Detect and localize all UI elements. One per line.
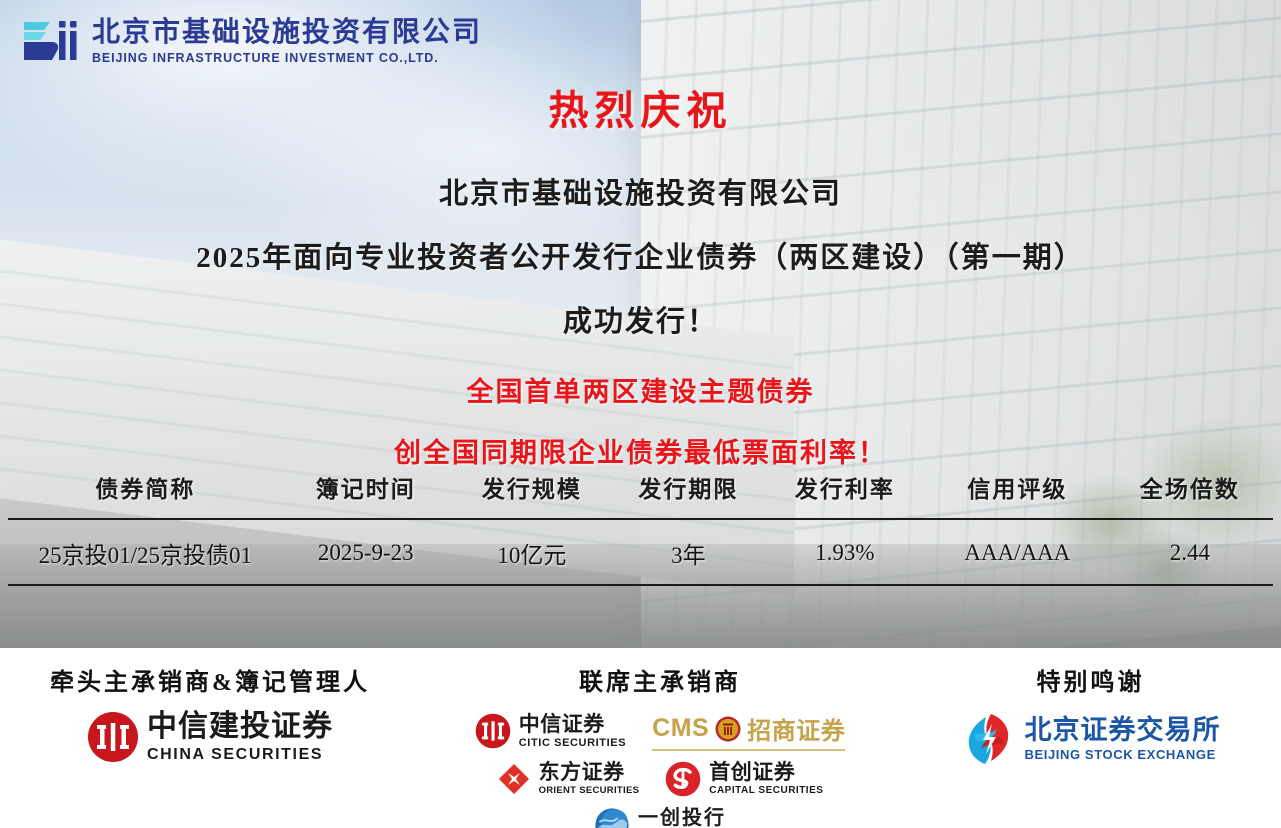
cms-abbreviation: CMS xyxy=(652,714,709,743)
highlight-line-2: 创全国同期限企业债券最低票面利率！ xyxy=(0,431,1281,470)
headline-line-1: 北京市基础设施投资有限公司 xyxy=(0,170,1281,212)
cell-bond-name: 25京投01/25京投债01 xyxy=(8,519,283,585)
logo-orient-securities: 东方证券 ORIENT SECURITIES xyxy=(497,762,640,796)
header-credit-rating: 信用评级 xyxy=(928,466,1107,519)
bii-logo-icon xyxy=(22,18,80,64)
orient-securities-icon xyxy=(497,762,531,796)
china-securities-wordmark: 中信建投证券 CHINA SECURITIES xyxy=(147,712,333,763)
bse-name-en: BEIJING STOCK EXCHANGE xyxy=(1025,748,1221,761)
footer-title-joint-underwriters: 联席主承销商 xyxy=(420,662,900,697)
headline-block: 热烈庆祝 北京市基础设施投资有限公司 2025年面向专业投资者公开发行企业债券（… xyxy=(0,0,1281,470)
cell-issue-term: 3年 xyxy=(615,519,762,585)
fcib-wordmark: 一创投行 FCIB xyxy=(638,808,726,828)
logo-beijing-stock-exchange: 北京证券交易所 BEIJING STOCK EXCHANGE xyxy=(961,711,1221,767)
capital-securities-name-cn: 首创证券 xyxy=(709,762,823,783)
logo-citic-securities: 中信证券 CITIC SECURITIES xyxy=(475,713,626,749)
capital-securities-icon xyxy=(665,761,701,797)
footer-logos-lead: 中信建投证券 CHINA SECURITIES xyxy=(0,711,420,763)
company-name-cn: 北京市基础设施投资有限公司 xyxy=(92,18,482,46)
header-bond-name: 债券简称 xyxy=(8,466,283,519)
company-logo: 北京市基础设施投资有限公司 BEIJING INFRASTRUCTURE INV… xyxy=(22,18,482,65)
footer-logos-thanks: 北京证券交易所 BEIJING STOCK EXCHANGE xyxy=(900,711,1281,767)
footer-column-lead-underwriter: 牵头主承销商&簿记管理人 中信建投证券 CHI xyxy=(0,648,420,828)
celebration-title: 热烈庆祝 xyxy=(0,78,1281,136)
logo-china-securities: 中信建投证券 CHINA SECURITIES xyxy=(87,711,333,763)
table-row: 25京投01/25京投债01 2025-9-23 10亿元 3年 1.93% A… xyxy=(8,519,1273,585)
company-logo-text: 北京市基础设施投资有限公司 BEIJING INFRASTRUCTURE INV… xyxy=(92,18,482,65)
capital-securities-name-en: CAPITAL SECURITIES xyxy=(709,786,823,796)
fcib-globe-icon xyxy=(594,807,630,828)
bond-summary-table: 债券简称 簿记时间 发行规模 发行期限 发行利率 信用评级 全场倍数 25京投0… xyxy=(8,466,1273,586)
footer-column-joint-underwriters: 联席主承销商 中信证券 CITIC SECU xyxy=(420,648,900,828)
cell-book-date: 2025-9-23 xyxy=(283,519,449,585)
footer-column-special-thanks: 特别鸣谢 北京证券交易所 BEIJING STOCK EXCHANGE xyxy=(900,648,1281,828)
capital-securities-wordmark: 首创证券 CAPITAL SECURITIES xyxy=(709,762,823,796)
china-securities-name-en: CHINA SECURITIES xyxy=(147,747,333,763)
header-issue-term: 发行期限 xyxy=(615,466,762,519)
beijing-stock-exchange-wordmark: 北京证券交易所 BEIJING STOCK EXCHANGE xyxy=(1025,717,1221,761)
highlight-line-1: 全国首单两区建设主题债券 xyxy=(0,370,1281,409)
fcib-name-cn: 一创投行 xyxy=(638,808,726,828)
citic-securities-name-en: CITIC SECURITIES xyxy=(519,738,626,749)
cell-issue-size: 10亿元 xyxy=(449,519,615,585)
citic-securities-icon xyxy=(475,713,511,749)
cell-credit-rating: AAA/AAA xyxy=(928,519,1107,585)
logo-cms-securities: CMS 招商证券 xyxy=(652,711,845,751)
bond-issuance-poster: 北京市基础设施投资有限公司 BEIJING INFRASTRUCTURE INV… xyxy=(0,0,1281,828)
header-issue-size: 发行规模 xyxy=(449,466,615,519)
headline-line-2: 2025年面向专业投资者公开发行企业债券（两区建设）（第一期） xyxy=(0,234,1281,276)
footer-logos-joint: 中信证券 CITIC SECURITIES CMS xyxy=(420,711,900,828)
cms-lockup: CMS 招商证券 xyxy=(652,711,845,751)
china-securities-icon xyxy=(87,711,139,763)
bse-name-cn: 北京证券交易所 xyxy=(1025,717,1221,744)
orient-securities-wordmark: 东方证券 ORIENT SECURITIES xyxy=(539,762,640,796)
china-securities-name-cn: 中信建投证券 xyxy=(147,712,333,742)
table-header-row: 债券简称 簿记时间 发行规模 发行期限 发行利率 信用评级 全场倍数 xyxy=(8,466,1273,519)
header-issue-rate: 发行利率 xyxy=(762,466,928,519)
cell-subscription-multiple: 2.44 xyxy=(1107,519,1273,585)
orient-securities-name-en: ORIENT SECURITIES xyxy=(539,786,640,796)
citic-securities-wordmark: 中信证券 CITIC SECURITIES xyxy=(519,714,626,749)
citic-securities-name-cn: 中信证券 xyxy=(519,714,626,735)
header-subscription-multiple: 全场倍数 xyxy=(1107,466,1273,519)
logo-fcib: 一创投行 FCIB xyxy=(594,807,726,828)
headline-line-3: 成功发行！ xyxy=(0,298,1281,340)
sponsor-footer: 牵头主承销商&簿记管理人 中信建投证券 CHI xyxy=(0,648,1281,828)
beijing-stock-exchange-icon xyxy=(961,711,1017,767)
logo-capital-securities: 首创证券 CAPITAL SECURITIES xyxy=(665,761,823,797)
cms-seal-icon xyxy=(715,716,741,742)
company-name-en: BEIJING INFRASTRUCTURE INVESTMENT CO.,LT… xyxy=(92,52,482,65)
header-book-date: 簿记时间 xyxy=(283,466,449,519)
footer-title-lead-underwriter: 牵头主承销商&簿记管理人 xyxy=(0,662,420,697)
cell-issue-rate: 1.93% xyxy=(762,519,928,585)
orient-securities-name-cn: 东方证券 xyxy=(539,762,640,783)
footer-title-special-thanks: 特别鸣谢 xyxy=(900,662,1281,697)
cms-name-cn: 招商证券 xyxy=(747,711,845,746)
